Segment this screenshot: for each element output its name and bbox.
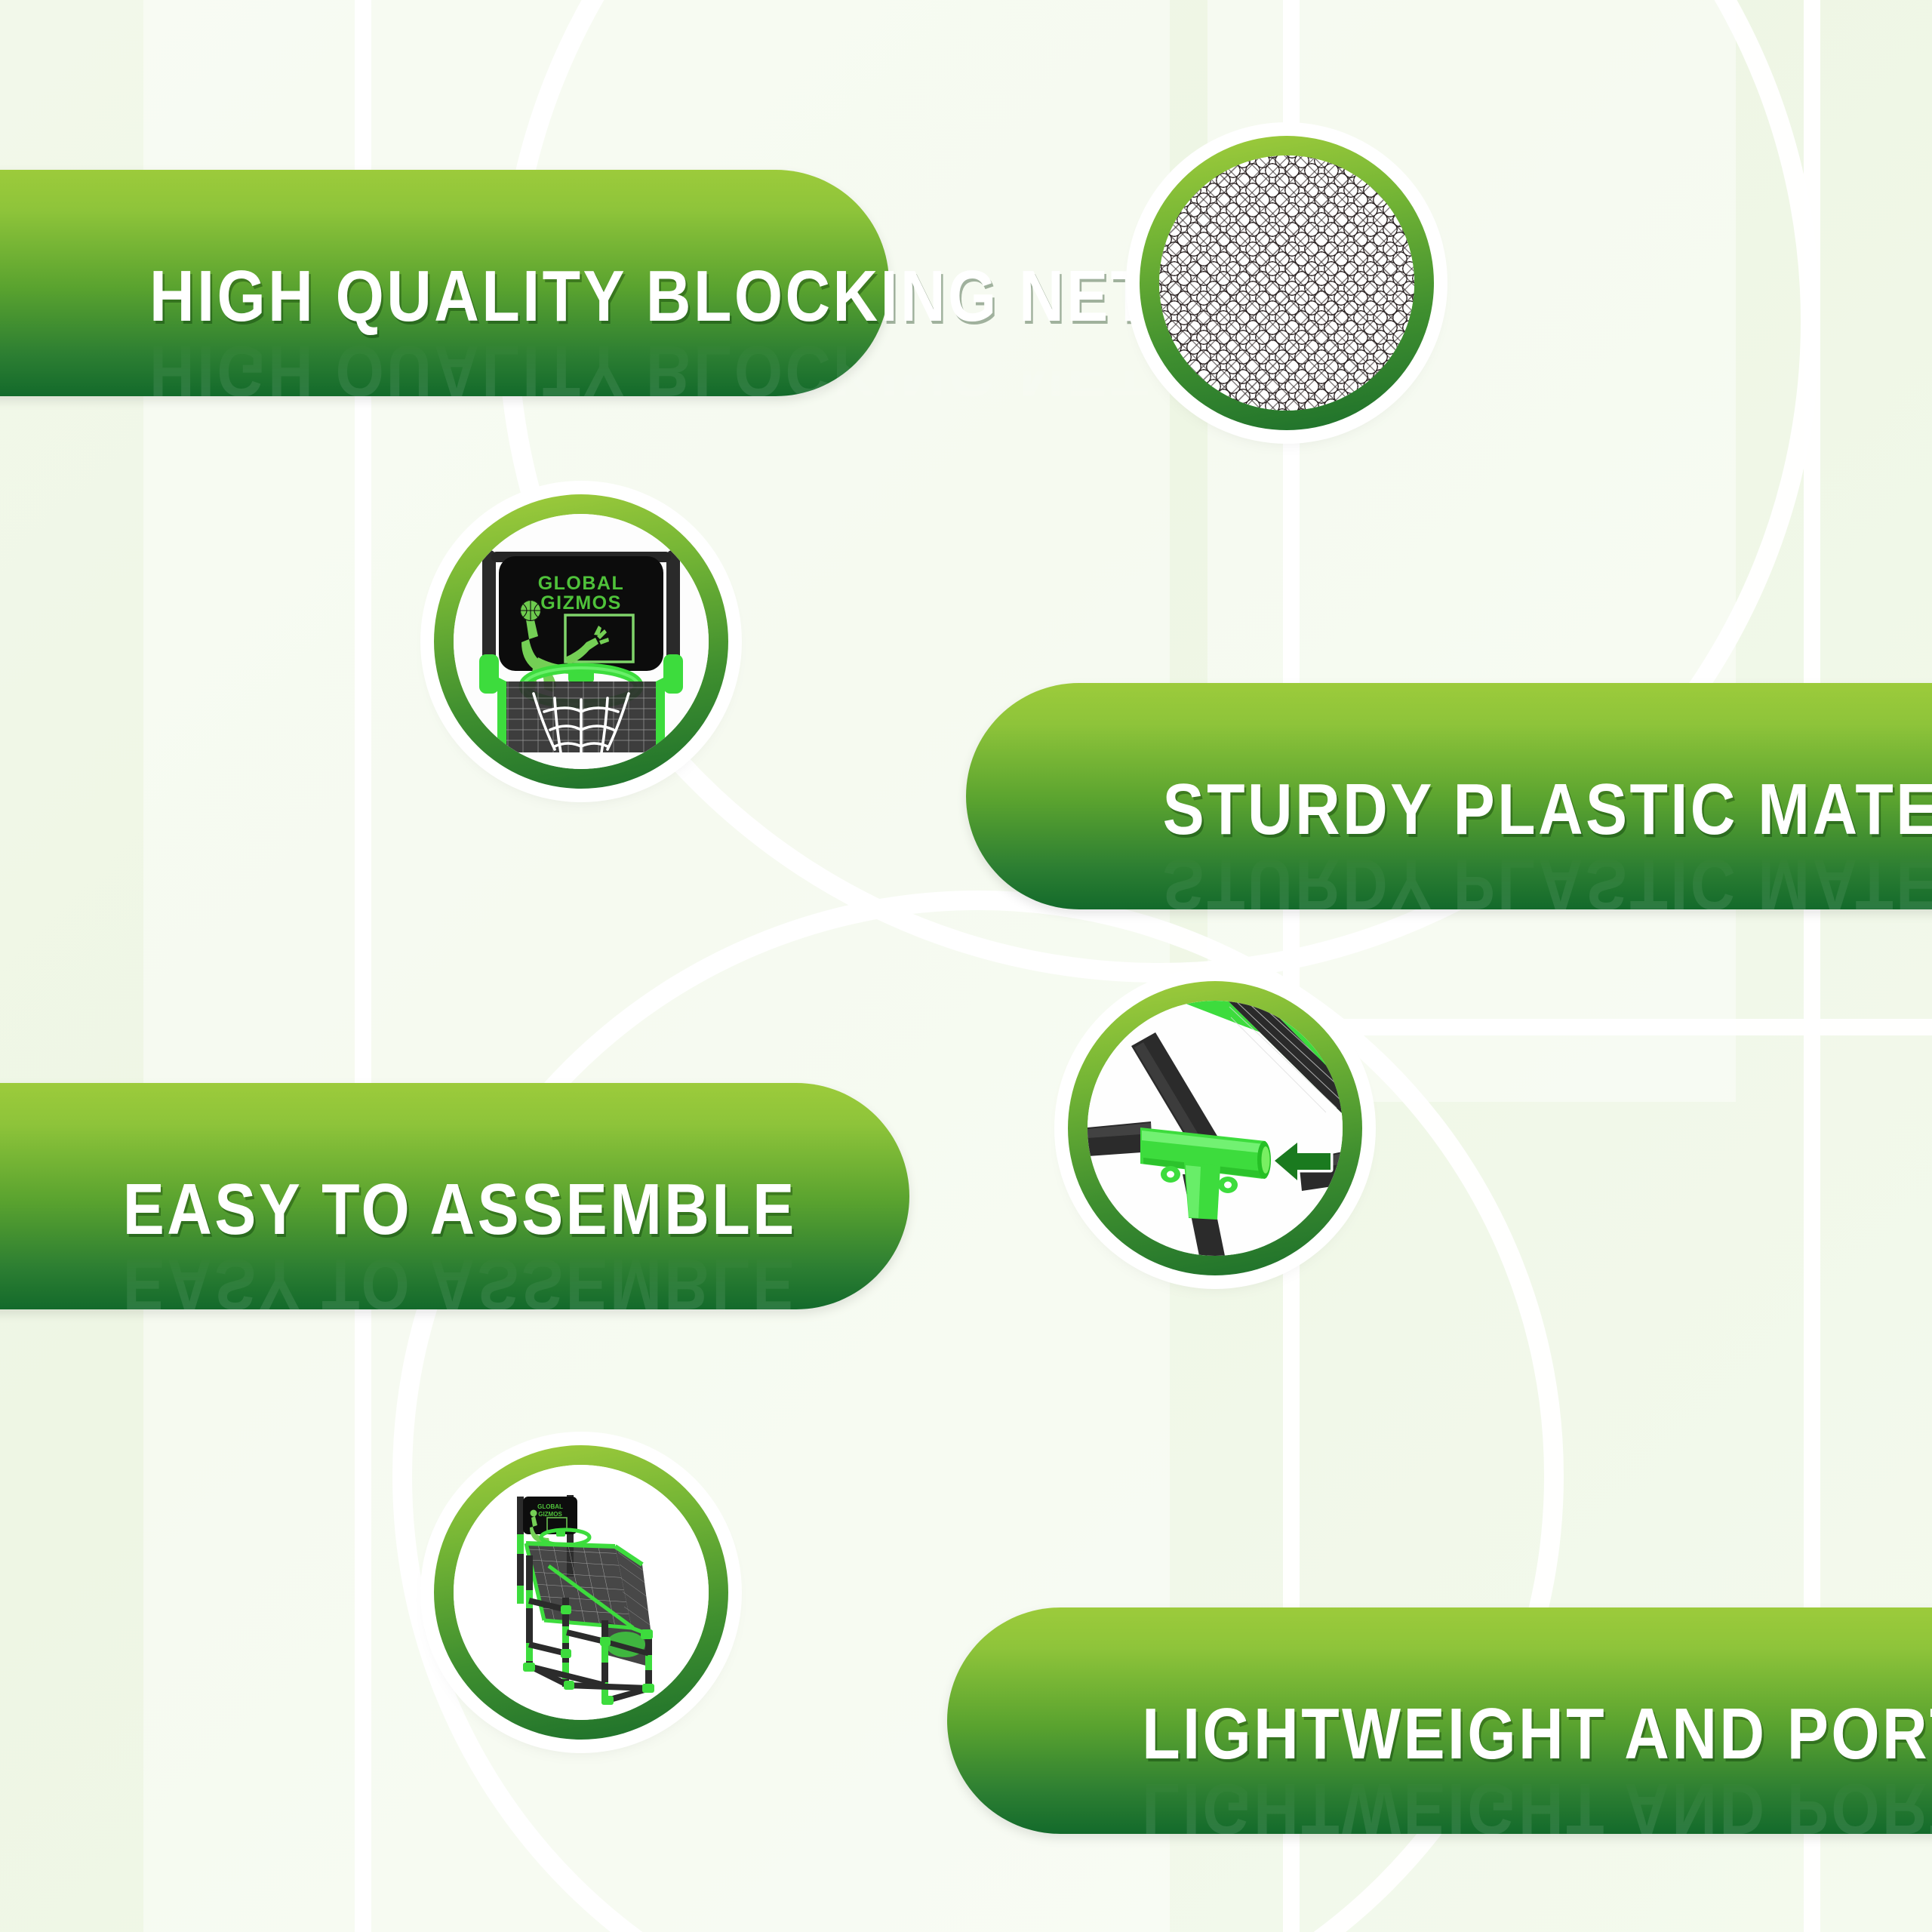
- feature-label-net: HIGH QUALITY BLOCKING NET: [149, 260, 1151, 333]
- bubble-photo-hoop: GLOBAL GIZMOS: [454, 514, 709, 769]
- feature-banner-net: HIGH QUALITY BLOCKING NET HIGH QUALITY B…: [0, 170, 889, 396]
- bubble-photo-product: GLOBAL GIZMOS: [454, 1465, 709, 1720]
- svg-text:GLOBAL: GLOBAL: [537, 1503, 563, 1510]
- feature-label-plastic-reflection: STURDY PLASTIC MATERIAL: [1163, 848, 1932, 920]
- feature-label-portable-reflection: LIGHTWEIGHT AND PORTABLE: [1142, 1772, 1932, 1844]
- feature-image-t-connector: [1068, 981, 1362, 1275]
- svg-text:GIZMOS: GIZMOS: [540, 592, 622, 614]
- feature-image-backboard-hoop: GLOBAL GIZMOS: [434, 494, 728, 789]
- svg-text:GIZMOS: GIZMOS: [538, 1511, 562, 1518]
- arcade-unit-illustration: GLOBAL GIZMOS: [454, 1465, 709, 1720]
- bubble-photo-connector: [1088, 1001, 1343, 1256]
- feature-image-full-unit: GLOBAL GIZMOS: [434, 1445, 728, 1740]
- infographic-canvas: HIGH QUALITY BLOCKING NET HIGH QUALITY B…: [0, 0, 1932, 1932]
- mesh-knots-icon: [1159, 155, 1414, 411]
- feature-banner-portable: LIGHTWEIGHT AND PORTABLE LIGHTWEIGHT AND…: [947, 1607, 1932, 1834]
- t-connector-illustration: [1088, 1001, 1343, 1256]
- feature-banner-plastic: STURDY PLASTIC MATERIAL STURDY PLASTIC M…: [966, 683, 1932, 909]
- feature-label-portable: LIGHTWEIGHT AND PORTABLE: [1142, 1698, 1932, 1770]
- feature-label-assemble-reflection: EASY TO ASSEMBLE: [123, 1247, 797, 1320]
- feature-image-blocking-net: [1140, 136, 1434, 430]
- feature-label-plastic: STURDY PLASTIC MATERIAL: [1163, 774, 1932, 846]
- backboard-hoop-illustration: GLOBAL GIZMOS: [454, 514, 709, 769]
- feature-label-net-reflection: HIGH QUALITY BLOCKING NET: [149, 334, 1151, 407]
- bubble-photo-net: [1159, 155, 1414, 411]
- svg-text:GLOBAL: GLOBAL: [538, 573, 625, 594]
- feature-label-assemble: EASY TO ASSEMBLE: [123, 1174, 797, 1246]
- feature-banner-assemble: EASY TO ASSEMBLE EASY TO ASSEMBLE: [0, 1083, 909, 1309]
